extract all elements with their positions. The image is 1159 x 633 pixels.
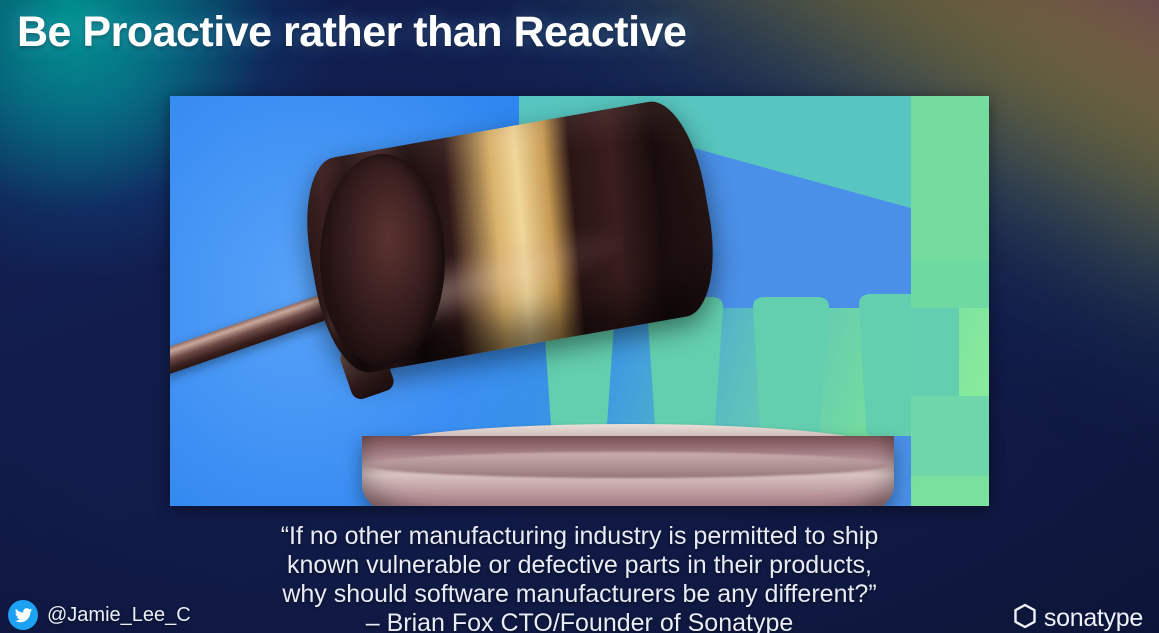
twitter-bird-icon (8, 600, 38, 630)
hexagon-icon (1013, 603, 1037, 633)
slide-image (170, 96, 989, 506)
slide-root: Be Proactive rather than Reactive (0, 0, 1159, 633)
quote-line-1: “If no other manufacturing industry is p… (0, 522, 1159, 551)
slide-title: Be Proactive rather than Reactive (17, 8, 686, 57)
gavel-illustration (170, 106, 770, 506)
twitter-handle-text: @Jamie_Lee_C (47, 604, 191, 627)
sonatype-wordmark: sonatype (1044, 604, 1143, 633)
quote-line-2: known vulnerable or defective parts in t… (0, 551, 1159, 580)
sonatype-logo: sonatype (1013, 603, 1143, 633)
sound-block-rim (366, 452, 890, 478)
twitter-credit[interactable]: @Jamie_Lee_C (8, 600, 191, 630)
gavel-head-face (320, 154, 445, 366)
